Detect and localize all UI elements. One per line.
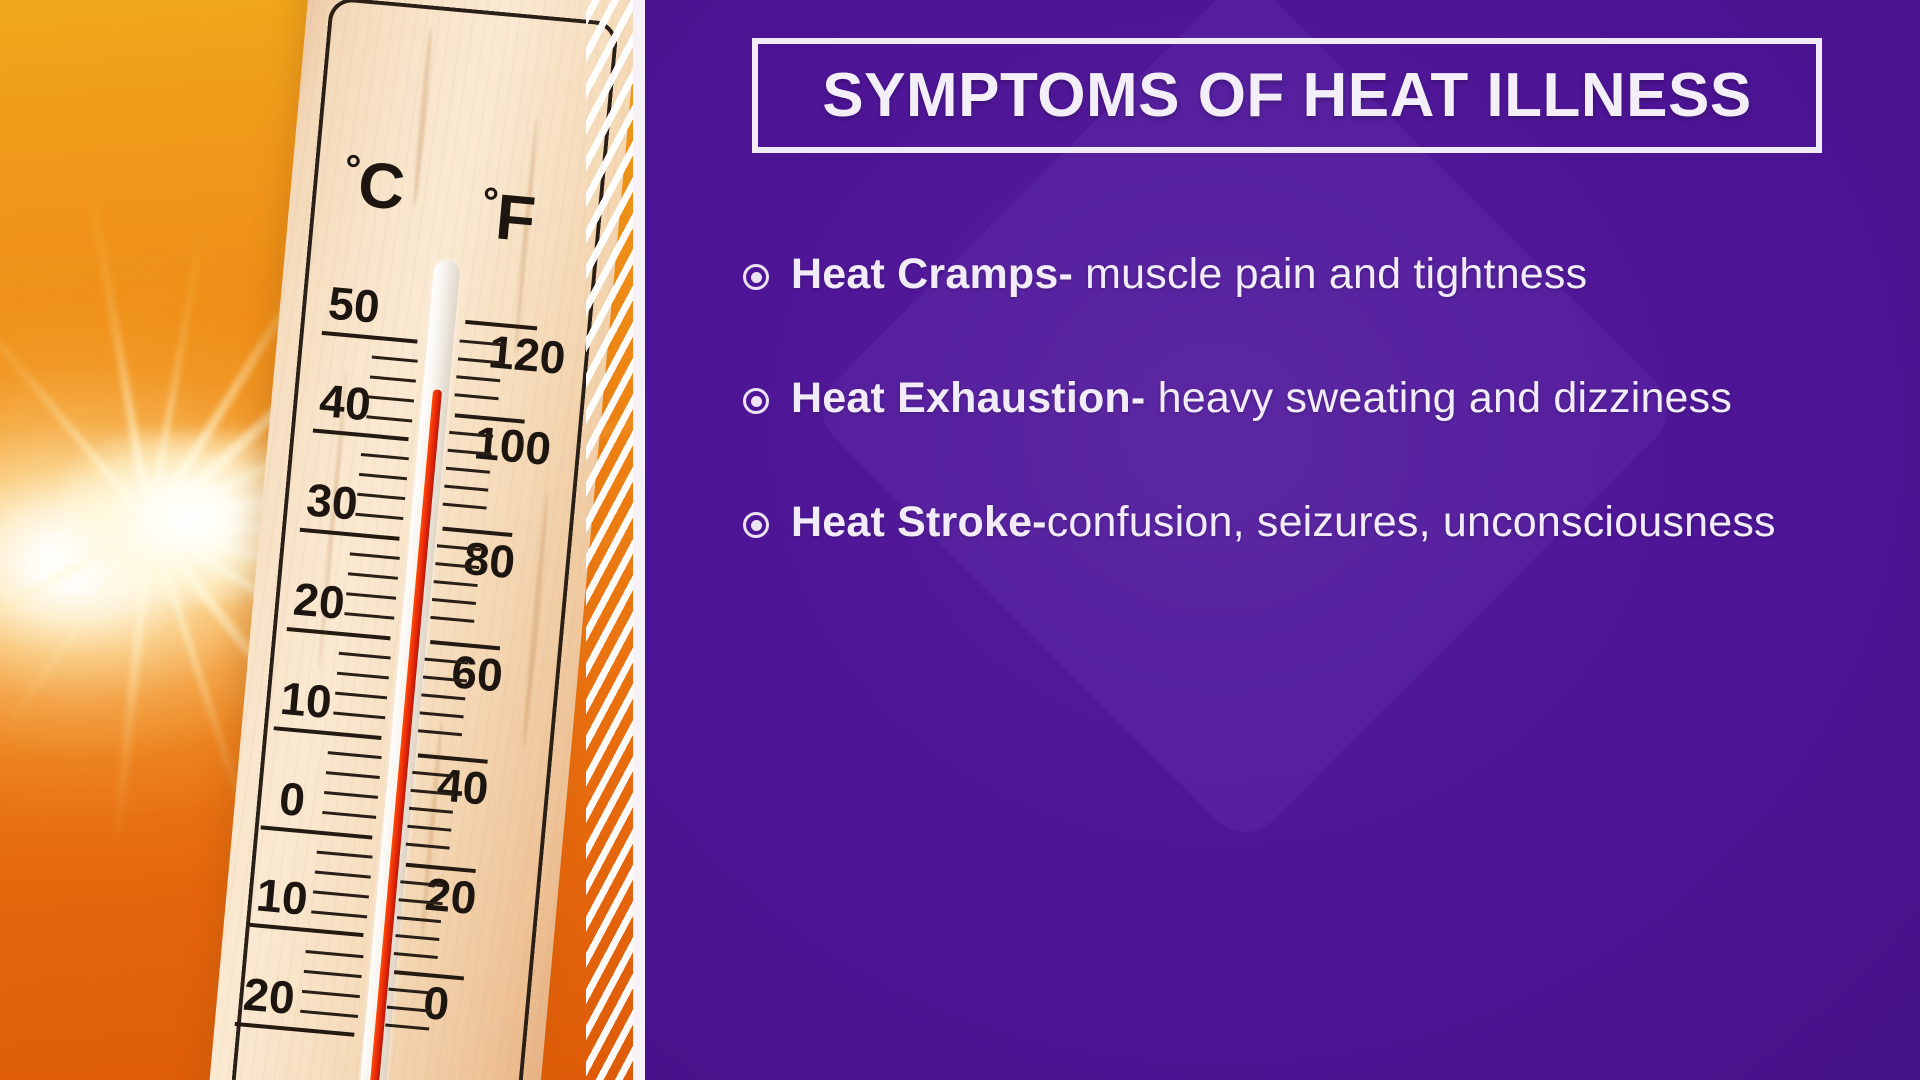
fahrenheit-tick: 80: [462, 531, 518, 589]
list-item: Heat Exhaustion- heavy sweating and dizz…: [743, 374, 1873, 422]
list-item-lead: Heat Cramps-: [791, 250, 1073, 298]
list-item: Heat Stroke-confusion, seizures, unconsc…: [743, 498, 1873, 546]
slide-canvas: °C °F 50 40 30 20 10 0 10 20: [0, 0, 1920, 1080]
fahrenheit-tick: 20: [423, 867, 479, 925]
fahrenheit-tick: 0: [421, 975, 451, 1031]
list-item-text: Heat Stroke-confusion, seizures, unconsc…: [791, 498, 1776, 546]
celsius-letter: C: [355, 148, 407, 224]
fahrenheit-tick: 40: [435, 757, 491, 815]
fisheye-bullet-icon: [743, 264, 769, 290]
celsius-tick: 30: [304, 472, 360, 530]
fahrenheit-letter: F: [493, 180, 537, 255]
fahrenheit-scale-label: °F: [478, 178, 538, 257]
fahrenheit-tick: 100: [472, 415, 553, 476]
fahrenheit-tick: 60: [449, 644, 505, 702]
celsius-tick: 10: [278, 671, 334, 729]
list-item-lead: Heat Exhaustion-: [791, 374, 1145, 422]
celsius-tick: 20: [241, 967, 297, 1025]
title-box: SYMPTOMS OF HEAT ILLNESS: [752, 38, 1822, 153]
content-panel: SYMPTOMS OF HEAT ILLNESS Heat Cramps- mu…: [645, 0, 1920, 1080]
list-item: Heat Cramps- muscle pain and tightness: [743, 250, 1873, 298]
bullet-marker: [743, 374, 791, 414]
list-item-rest: heavy sweating and dizziness: [1145, 374, 1732, 422]
list-item-text: Heat Exhaustion- heavy sweating and dizz…: [791, 374, 1732, 422]
fisheye-bullet-icon: [743, 512, 769, 538]
bullet-marker: [743, 498, 791, 538]
bullet-marker: [743, 250, 791, 290]
celsius-tick: 50: [326, 276, 382, 334]
celsius-tick: 10: [254, 867, 310, 925]
list-item-rest: confusion, seizures, unconsciousness: [1047, 498, 1776, 546]
symptoms-list: Heat Cramps- muscle pain and tightness H…: [743, 250, 1873, 622]
celsius-scale-label: °C: [340, 145, 407, 224]
list-item-lead: Heat Stroke-: [791, 498, 1047, 546]
list-item-rest: muscle pain and tightness: [1073, 250, 1587, 298]
white-seam-divider: [633, 0, 645, 1080]
celsius-tick: 0: [277, 771, 307, 827]
thermometer-photo: °C °F 50 40 30 20 10 0 10 20: [0, 0, 642, 1080]
page-title: SYMPTOMS OF HEAT ILLNESS: [822, 60, 1751, 131]
list-item-text: Heat Cramps- muscle pain and tightness: [791, 250, 1587, 298]
celsius-tick: 20: [291, 572, 347, 630]
fahrenheit-tick: 120: [486, 324, 567, 385]
celsius-tick: 40: [317, 373, 373, 431]
fisheye-bullet-icon: [743, 388, 769, 414]
